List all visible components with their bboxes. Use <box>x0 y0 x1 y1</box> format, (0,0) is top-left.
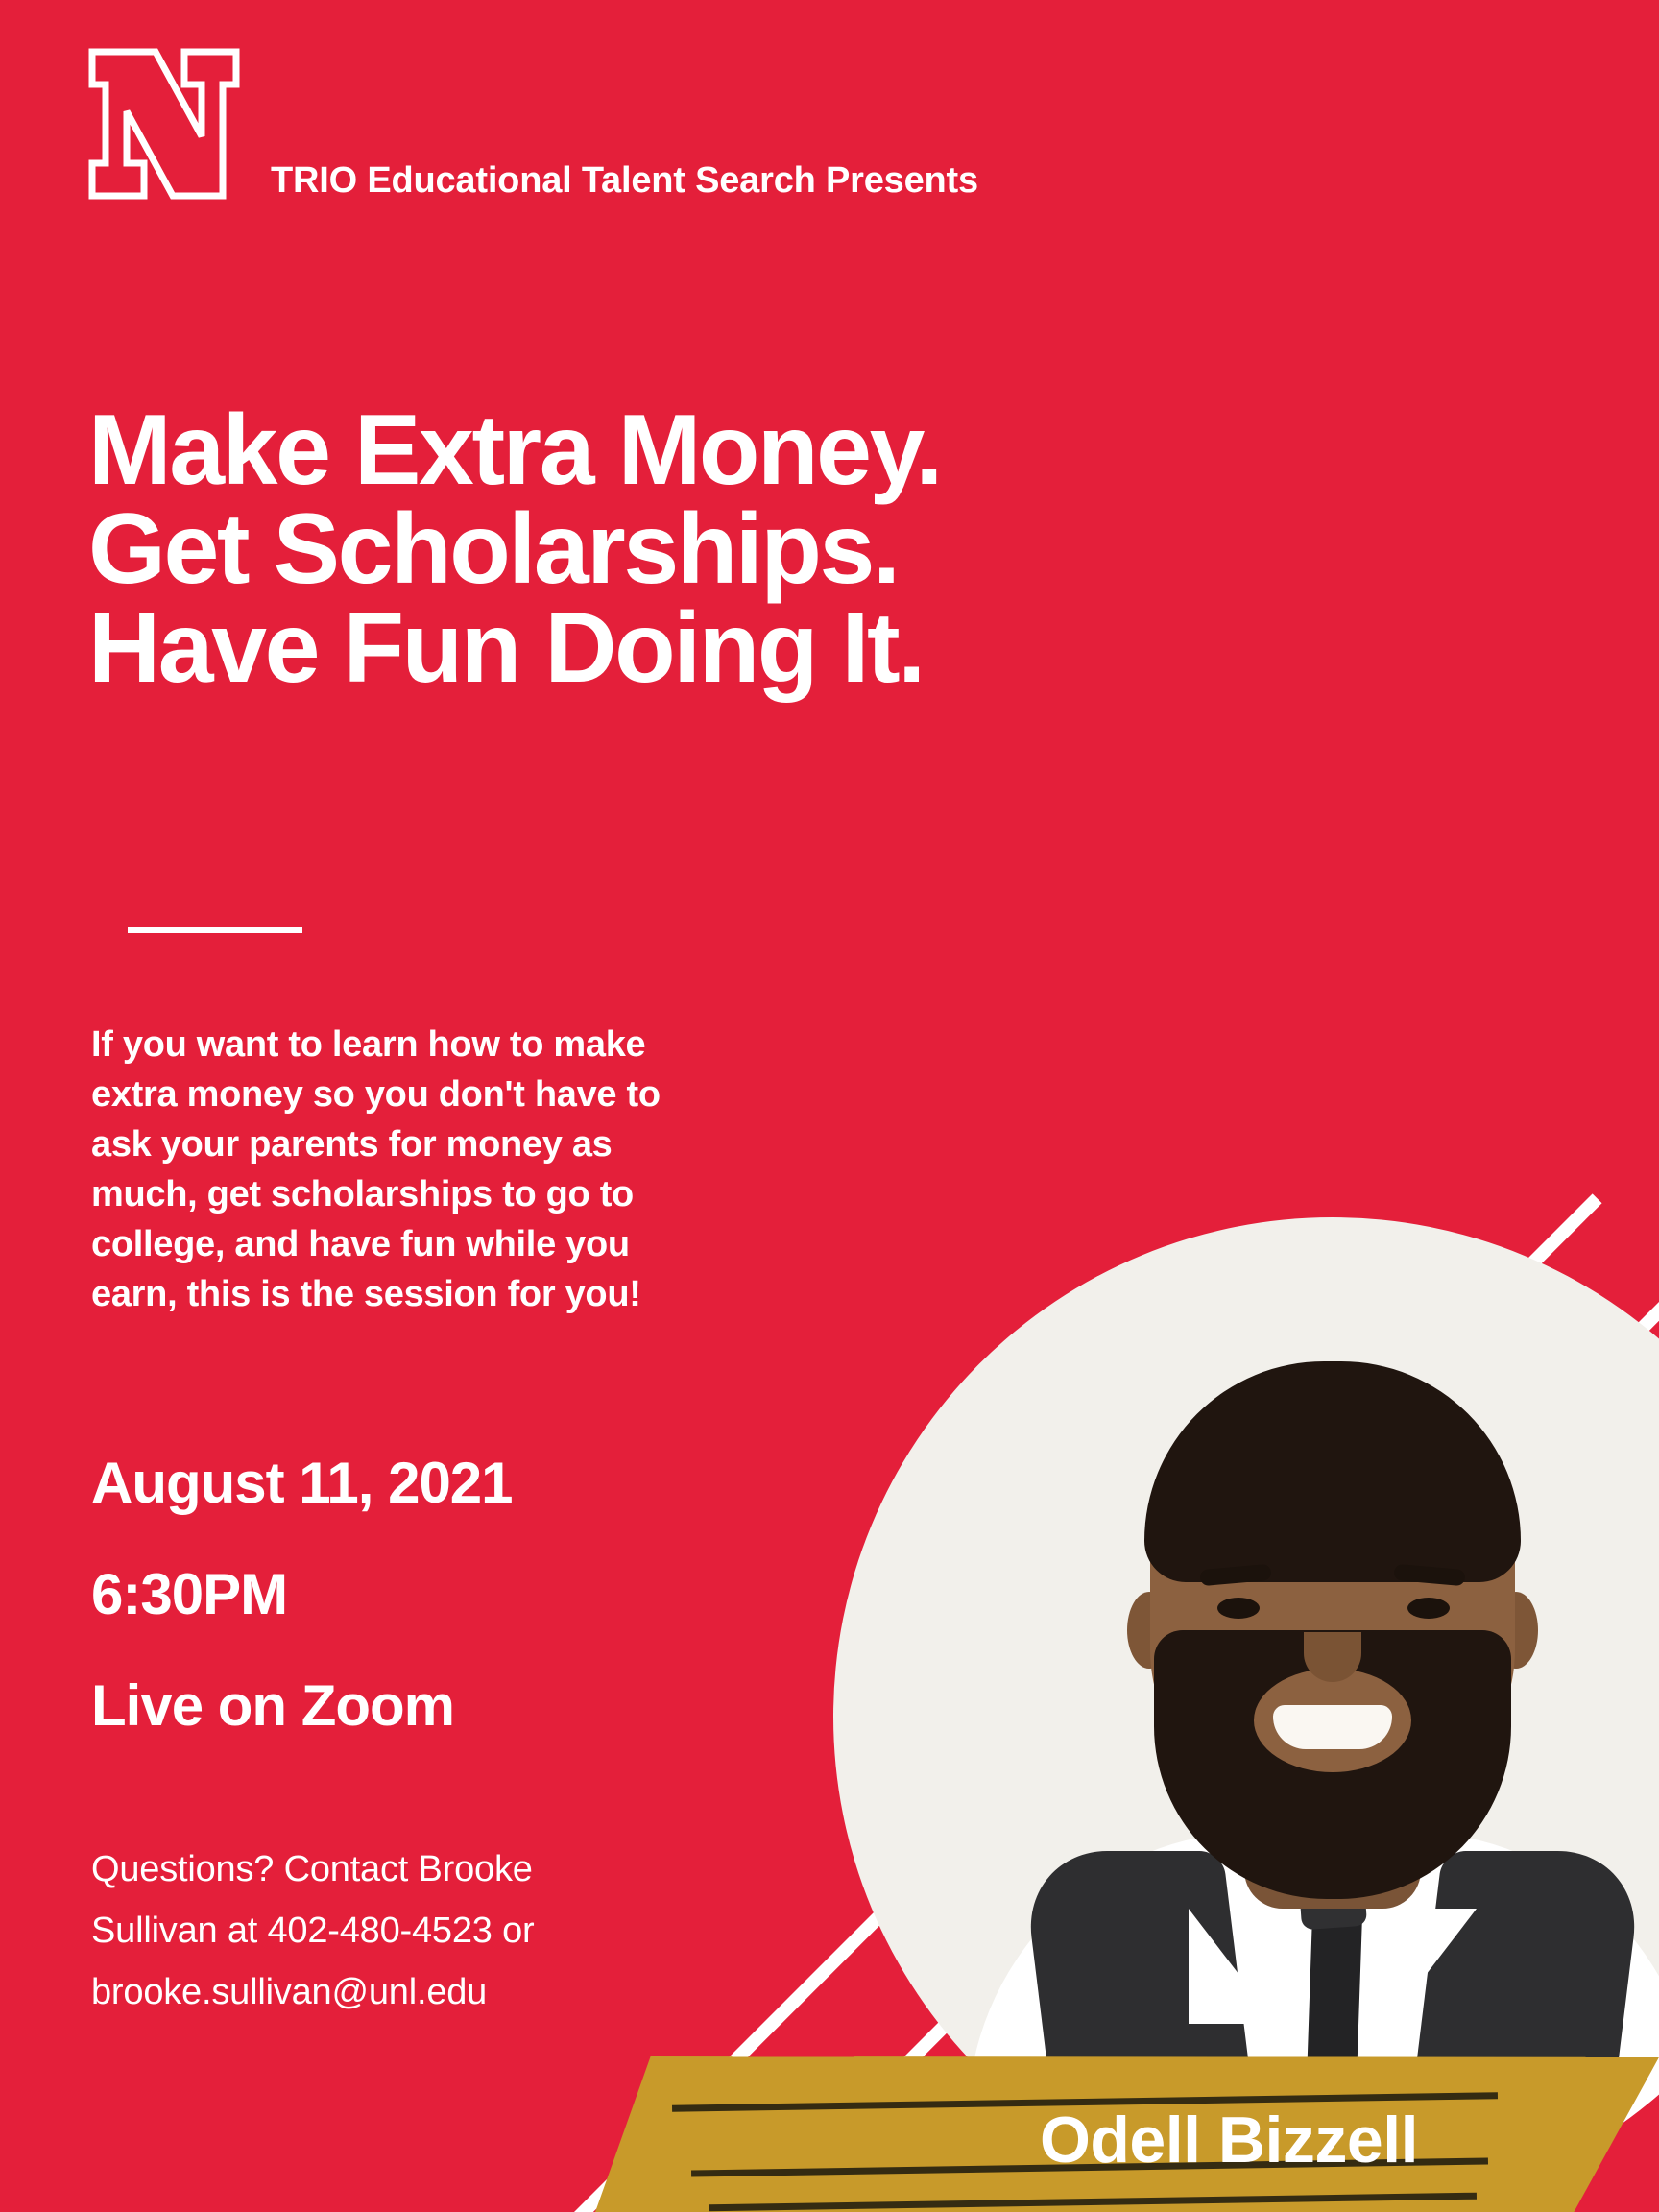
headline-line-1: Make Extra Money. <box>88 401 941 500</box>
poster-canvas: TRIO Educational Talent Search Presents … <box>0 0 1659 2212</box>
description-paragraph: If you want to learn how to make extra m… <box>91 1020 677 1319</box>
portrait-eye-right <box>1407 1598 1450 1619</box>
contact-line-2: Sullivan at 402-480-4523 or <box>91 1900 715 1961</box>
nebraska-n-logo-icon <box>84 46 244 202</box>
portrait-eye-left <box>1217 1598 1260 1619</box>
event-date: August 11, 2021 <box>91 1450 513 1516</box>
headline-line-2: Get Scholarships. <box>88 500 941 599</box>
headline-line-3: Have Fun Doing It. <box>88 599 941 698</box>
contact-line-1: Questions? Contact Brooke <box>91 1839 715 1900</box>
portrait-hair <box>1144 1361 1521 1582</box>
contact-email[interactable]: brooke.sullivan@unl.edu <box>91 1961 715 2023</box>
divider-rule <box>128 927 302 933</box>
event-location: Live on Zoom <box>91 1672 454 1739</box>
speaker-name: Odell Bizzell <box>864 2103 1594 2177</box>
event-time: 6:30PM <box>91 1561 287 1627</box>
page-title: Make Extra Money. Get Scholarships. Have… <box>88 401 941 698</box>
portrait-smile <box>1273 1705 1392 1749</box>
contact-block: Questions? Contact Brooke Sullivan at 40… <box>91 1839 715 2023</box>
presents-header: TRIO Educational Talent Search Presents <box>271 160 978 202</box>
portrait-collar-right <box>1388 1909 1477 2024</box>
portrait-collar-left <box>1189 1909 1277 2024</box>
